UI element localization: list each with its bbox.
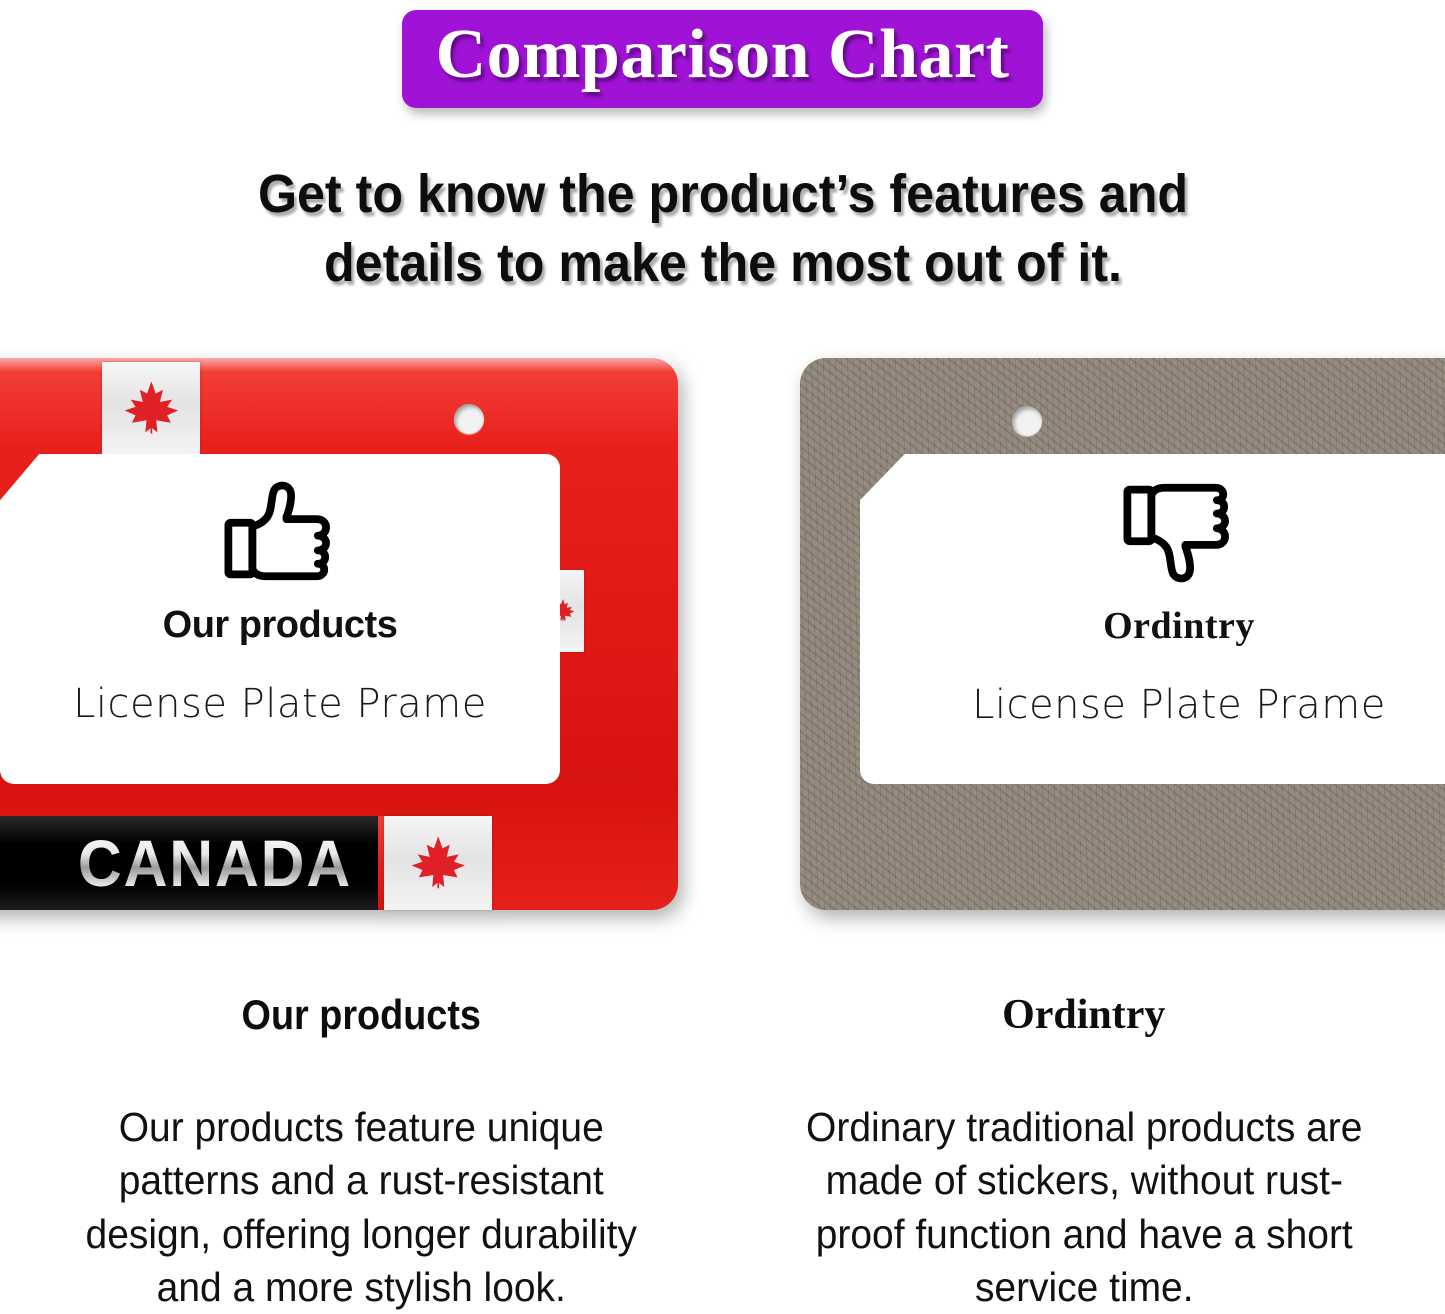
ordinary-frame-screw-hole: [1012, 406, 1042, 436]
thumbs-down-icon: [1120, 478, 1238, 586]
ordinary-product-inner-subtitle: License Plate Prame: [972, 682, 1386, 728]
subtitle-line-1: Get to know the product’s features and: [146, 160, 1299, 229]
our-product-column-description: Our products feature unique patterns and…: [62, 1101, 661, 1314]
canada-plate-band: CANADA: [0, 816, 378, 910]
canada-band-text: CANADA: [78, 825, 352, 901]
ordinary-plate-window: Ordintry License Plate Prame: [860, 454, 1445, 784]
our-product-column: Our products Our products feature unique…: [0, 975, 723, 1314]
title-banner: Comparison Chart: [402, 10, 1044, 108]
maple-leaf-icon: [121, 375, 182, 441]
rusty-license-plate-frame: Ordintry License Plate Prame: [800, 358, 1445, 910]
canada-flag-patch-bottom: [384, 816, 492, 910]
comparison-columns: Our products Our products feature unique…: [0, 975, 1445, 1314]
our-product-column-heading: Our products: [78, 991, 645, 1039]
thumbs-up-icon: [221, 478, 339, 586]
our-plate-window: Our products License Plate Prame: [0, 454, 560, 784]
our-product-inner-title: Our products: [163, 604, 398, 647]
ordinary-plate-window-content: Ordintry License Plate Prame: [860, 454, 1445, 784]
canada-flag-patch-top: [102, 362, 200, 454]
red-license-plate-frame: CANADA: [0, 358, 678, 910]
ordinary-product-inner-title: Ordintry: [1103, 604, 1255, 648]
ordinary-product-column-heading: Ordintry: [769, 991, 1400, 1039]
ordinary-product-frame: Ordintry License Plate Prame: [800, 358, 1445, 910]
page-title: Comparison Chart: [436, 16, 1010, 94]
our-plate-window-content: Our products License Plate Prame: [0, 454, 560, 784]
title-banner-wrapper: Comparison Chart: [0, 10, 1445, 108]
product-frames-row: CANADA: [0, 358, 1445, 920]
ordinary-product-column: Ordintry Ordinary traditional products a…: [723, 975, 1445, 1314]
our-product-inner-subtitle: License Plate Prame: [73, 681, 487, 727]
our-product-frame: CANADA: [0, 358, 678, 910]
our-frame-screw-hole: [454, 404, 484, 434]
page-subtitle: Get to know the product’s features and d…: [146, 160, 1299, 298]
subtitle-line-2: details to make the most out of it.: [146, 229, 1299, 298]
maple-leaf-icon: [408, 830, 468, 896]
ordinary-product-column-description: Ordinary traditional products are made o…: [784, 1101, 1383, 1314]
comparison-chart-page: Comparison Chart Get to know the product…: [0, 0, 1445, 1314]
